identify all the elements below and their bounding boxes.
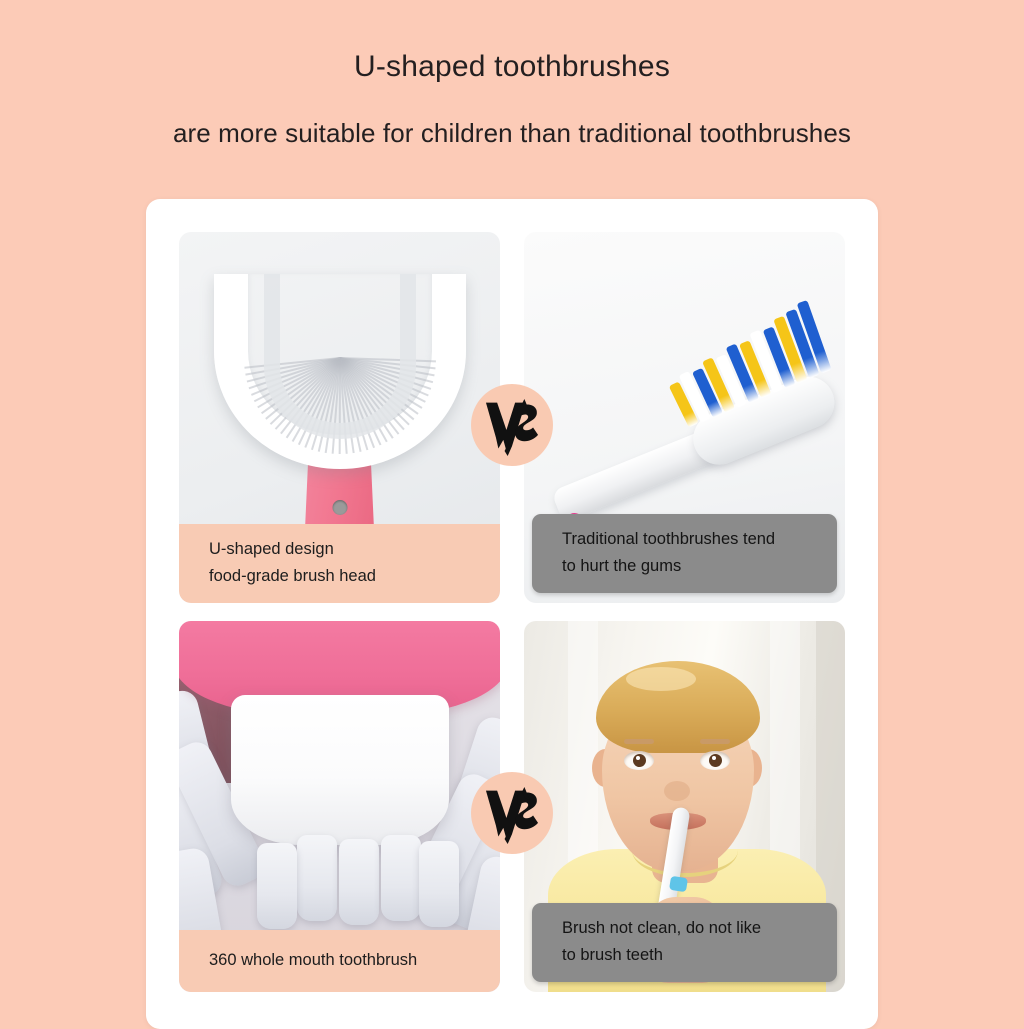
panel-u-shaped-brush-head[interactable]: U-shaped design food-grade brush head — [179, 232, 500, 603]
panel-child-brushing[interactable]: Brush not clean, do not like to brush te… — [524, 621, 845, 992]
caption-line: to brush teeth — [562, 942, 815, 969]
caption-line: Brush not clean, do not like — [562, 915, 815, 942]
caption-whole-mouth-coverage: 360 whole mouth toothbrush — [179, 930, 500, 992]
child-eye-right — [700, 751, 730, 770]
caption-line: food-grade brush head — [209, 563, 478, 590]
vs-badge-top — [471, 384, 553, 466]
u-brush-head — [214, 274, 466, 469]
caption-child-brushing: Brush not clean, do not like to brush te… — [532, 903, 837, 982]
caption-u-shaped-brush-head: U-shaped design food-grade brush head — [179, 524, 500, 603]
caption-line: Traditional toothbrushes tend — [562, 526, 815, 553]
panel-grid: U-shaped design food-grade brush head Tr… — [179, 232, 845, 992]
front-teeth — [231, 695, 449, 845]
caption-line: to hurt the gums — [562, 553, 815, 580]
toothbrush-grip-band — [669, 876, 688, 892]
caption-traditional-toothbrush: Traditional toothbrushes tend to hurt th… — [532, 514, 837, 593]
child-hair — [596, 661, 760, 753]
panel-traditional-toothbrush[interactable]: Traditional toothbrushes tend to hurt th… — [524, 232, 845, 603]
child-nose — [664, 781, 690, 801]
panel-whole-mouth-coverage[interactable]: 360 whole mouth toothbrush — [179, 621, 500, 992]
caption-line: U-shaped design — [209, 536, 478, 563]
vs-icon — [481, 782, 543, 844]
child-eye-left — [624, 751, 654, 770]
heading-block: U-shaped toothbrushes are more suitable … — [0, 0, 1024, 190]
handle-hole — [332, 500, 347, 515]
caption-line: 360 whole mouth toothbrush — [209, 947, 478, 974]
page-subtitle: are more suitable for children than trad… — [0, 118, 1024, 149]
vs-icon — [481, 394, 543, 456]
vs-badge-bottom — [471, 772, 553, 854]
page-title: U-shaped toothbrushes — [0, 50, 1024, 84]
comparison-card: U-shaped design food-grade brush head Tr… — [146, 199, 878, 1029]
